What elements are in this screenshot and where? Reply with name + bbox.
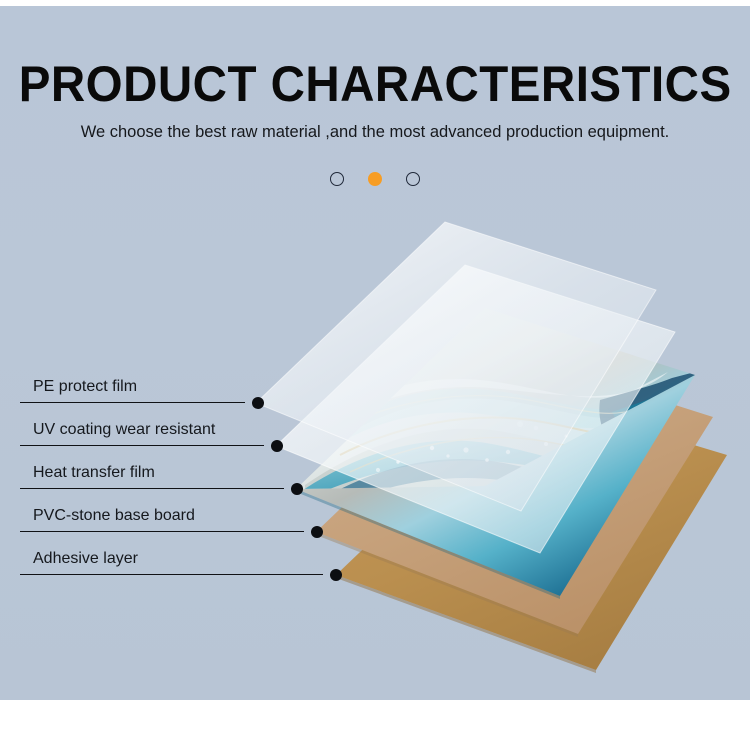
callout-leader-line bbox=[20, 488, 284, 489]
callout-dot bbox=[252, 397, 264, 409]
carousel-dot-1[interactable] bbox=[330, 172, 344, 186]
callout-leader-line bbox=[20, 445, 264, 446]
carousel-dot-2-active[interactable] bbox=[368, 172, 382, 186]
page-subtitle: We choose the best raw material ,and the… bbox=[0, 121, 750, 143]
callout-uv-coating-wear-resistant: UV coating wear resistant bbox=[20, 426, 300, 446]
callout-label: Heat transfer film bbox=[33, 463, 155, 483]
callout-heat-transfer-film: Heat transfer film bbox=[20, 469, 320, 489]
callout-label: PE protect film bbox=[33, 377, 137, 397]
callout-dot bbox=[271, 440, 283, 452]
carousel-dots[interactable] bbox=[0, 172, 750, 186]
callout-leader-line bbox=[20, 531, 304, 532]
callout-label: PVC-stone base board bbox=[33, 506, 195, 526]
callout-adhesive-layer: Adhesive layer bbox=[20, 555, 360, 575]
page-title: PRODUCT CHARACTERISTICS bbox=[19, 58, 732, 110]
callout-pvc-stone-base-board: PVC-stone base board bbox=[20, 512, 340, 532]
callout-label: UV coating wear resistant bbox=[33, 420, 215, 440]
callout-dot bbox=[311, 526, 323, 538]
carousel-dot-3[interactable] bbox=[406, 172, 420, 186]
callout-leader-line bbox=[20, 574, 323, 575]
callout-dot bbox=[291, 483, 303, 495]
product-characteristics-infographic: PRODUCT CHARACTERISTICS We choose the be… bbox=[0, 0, 750, 733]
callout-leader-line bbox=[20, 402, 245, 403]
callout-dot bbox=[330, 569, 342, 581]
callout-label: Adhesive layer bbox=[33, 549, 138, 569]
callout-pe-protect-film: PE protect film bbox=[20, 383, 280, 403]
